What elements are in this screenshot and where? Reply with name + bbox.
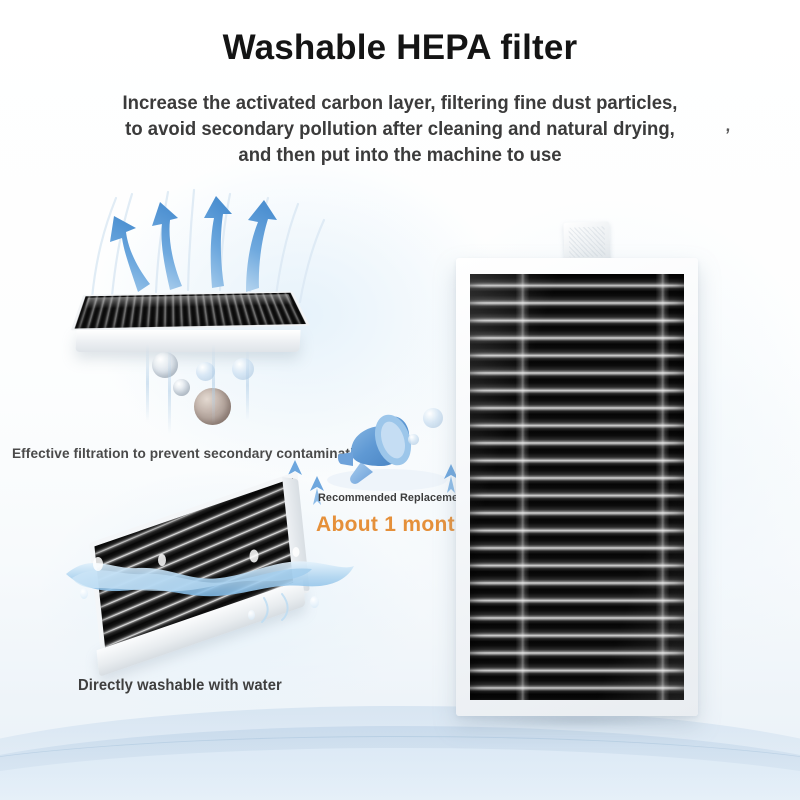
background-wave-band-3 bbox=[0, 748, 800, 800]
hepa-filter-airflow-view bbox=[70, 291, 304, 331]
dust-particle-icon bbox=[173, 379, 190, 396]
water-splash-icon bbox=[58, 512, 358, 662]
filter-sheen bbox=[84, 294, 293, 309]
filter-front-frame bbox=[75, 330, 300, 352]
filter-pleat-surface bbox=[71, 291, 310, 330]
airflow-streak bbox=[146, 344, 149, 422]
subtitle-line-3: and then put into the machine to use bbox=[72, 142, 728, 168]
bubble-icon bbox=[423, 408, 443, 428]
hepa-carbon-filter-front-view bbox=[456, 258, 698, 716]
subtitle-line-1: Increase the activated carbon layer, fil… bbox=[72, 90, 728, 116]
washing-illustration bbox=[72, 492, 342, 672]
product-infographic: Washable HEPA filter Increase the activa… bbox=[0, 0, 800, 800]
airflow-streak bbox=[212, 344, 215, 424]
filter-carbon-pleats bbox=[470, 274, 684, 700]
filter-gloss-overlay bbox=[470, 274, 684, 700]
filter-support-rib bbox=[516, 274, 529, 700]
water-droplet-icon bbox=[80, 588, 88, 599]
filter-pull-tab bbox=[563, 221, 610, 263]
filter-support-rib bbox=[656, 274, 669, 700]
water-droplet-icon bbox=[248, 610, 255, 620]
page-subtitle: Increase the activated carbon layer, fil… bbox=[72, 90, 728, 168]
dust-particle-icon bbox=[152, 352, 178, 378]
background-wave-line bbox=[0, 736, 800, 800]
caption-directly-washable: Directly washable with water bbox=[78, 677, 282, 695]
water-droplet-icon bbox=[310, 596, 319, 608]
airflow-streak bbox=[168, 348, 171, 434]
subtitle-line-2: to avoid secondary pollution after clean… bbox=[72, 116, 728, 142]
megaphone-illustration bbox=[295, 400, 465, 500]
filter-pull-tab-texture bbox=[568, 226, 605, 257]
airflow-streak bbox=[246, 350, 249, 420]
page-title: Washable HEPA filter bbox=[0, 28, 800, 68]
dust-particle-icon bbox=[232, 358, 254, 380]
bubble-icon bbox=[408, 434, 419, 445]
background-wave-band-2 bbox=[0, 726, 800, 800]
